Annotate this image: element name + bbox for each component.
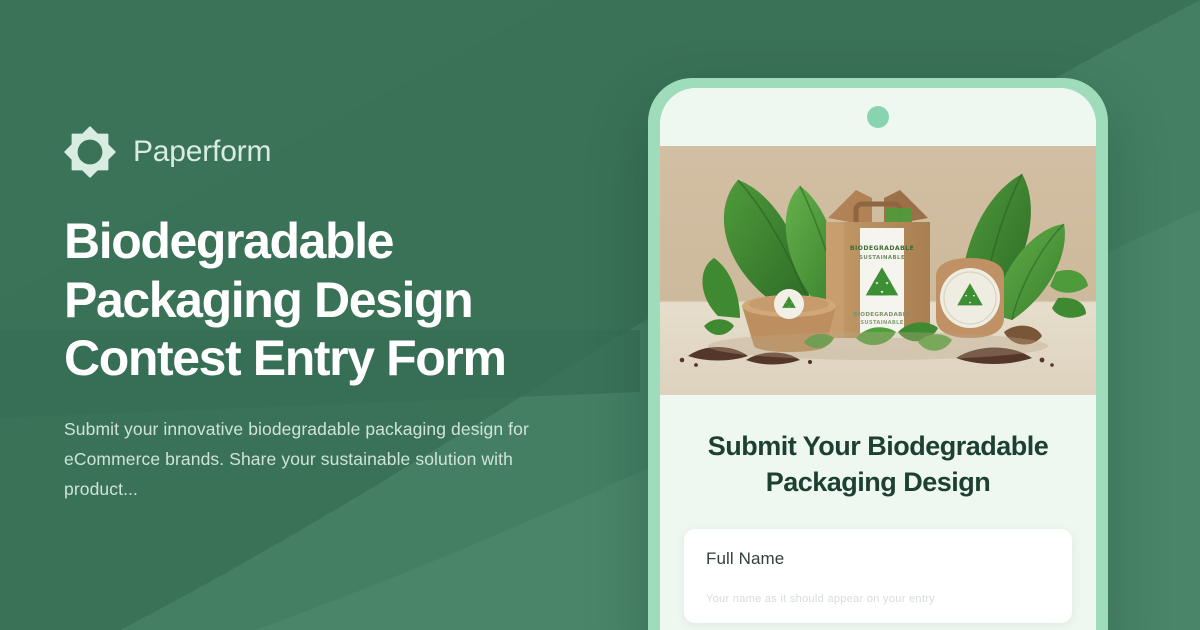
paperform-star-logo-icon <box>64 126 116 178</box>
svg-text:BIODEGRADABLE: BIODEGRADABLE <box>853 312 910 318</box>
full-name-field-label: Full Name <box>706 549 1050 569</box>
paperform-star-logo-glyph <box>64 126 116 178</box>
phone-screen: BIODEGRADABLE SUSTAINABLE BIODEGRADABLE … <box>660 88 1096 630</box>
svg-text:SUSTAINABLE: SUSTAINABLE <box>859 255 905 261</box>
page-subtitle: Submit your innovative biodegradable pac… <box>64 414 554 504</box>
front-camera-dot-icon <box>867 106 889 128</box>
form-title: Submit Your Biodegradable Packaging Desi… <box>684 429 1072 501</box>
phone-mockup: BIODEGRADABLE SUSTAINABLE BIODEGRADABLE … <box>648 78 1108 630</box>
svg-text:SUSTAINABLE: SUSTAINABLE <box>860 320 903 326</box>
brand-lockup: Paperform <box>64 126 624 178</box>
phone-status-bar <box>660 88 1096 146</box>
svg-text:BIODEGRADABLE: BIODEGRADABLE <box>850 245 914 252</box>
brand-name: Paperform <box>133 135 271 169</box>
hero-left-panel: Paperform Biodegradable Packaging Design… <box>64 0 624 630</box>
form-field-card[interactable]: Full Name Your name as it should appear … <box>684 529 1072 623</box>
full-name-field-hint: Your name as it should appear on your en… <box>706 593 1050 605</box>
eco-packaging-illustration: BIODEGRADABLE SUSTAINABLE BIODEGRADABLE … <box>660 146 1096 395</box>
form-body: Submit Your Biodegradable Packaging Desi… <box>660 395 1096 630</box>
page-title: Biodegradable Packaging Design Contest E… <box>64 212 564 388</box>
form-cover-image: BIODEGRADABLE SUSTAINABLE BIODEGRADABLE … <box>660 146 1096 395</box>
